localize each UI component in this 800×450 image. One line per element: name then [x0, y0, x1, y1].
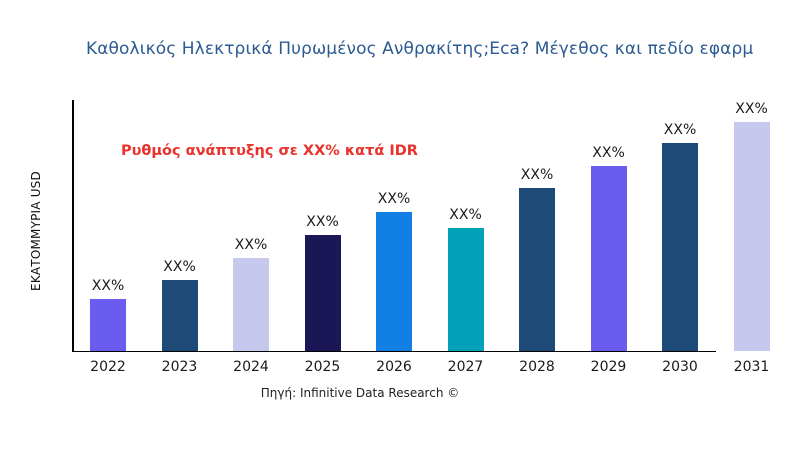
bar-group: XX% — [90, 299, 126, 351]
bar-value-label: XX% — [163, 259, 195, 275]
bar[interactable] — [90, 299, 126, 351]
x-tick-label: 2024 — [216, 359, 286, 375]
x-tick-label: 2022 — [73, 359, 143, 375]
bar-group: XX% — [376, 212, 412, 351]
chart-title: Καθολικός Ηλεκτρικά Πυρωμένος Ανθρακίτης… — [86, 39, 800, 59]
y-axis-line — [72, 100, 74, 352]
x-tick-label: 2028 — [502, 359, 572, 375]
x-axis-line — [72, 351, 716, 353]
bar[interactable] — [662, 143, 698, 351]
x-tick-label: 2029 — [574, 359, 644, 375]
bar[interactable] — [591, 166, 627, 351]
bar[interactable] — [734, 122, 770, 351]
bar[interactable] — [519, 188, 555, 351]
bar-group: XX% — [305, 235, 341, 351]
bar-value-label: XX% — [235, 237, 267, 253]
bar-group: XX% — [233, 258, 269, 351]
bar-group: XX% — [162, 280, 198, 351]
bar[interactable] — [162, 280, 198, 351]
bar-group: XX% — [448, 228, 484, 351]
bar[interactable] — [376, 212, 412, 351]
bar-value-label: XX% — [735, 101, 767, 117]
x-tick-label: 2027 — [431, 359, 501, 375]
growth-rate-annotation: Ρυθμός ανάπτυξης σε XX% κατά IDR — [121, 143, 418, 159]
x-tick-label: 2031 — [717, 359, 787, 375]
x-tick-label: 2026 — [359, 359, 429, 375]
chart-page: Καθολικός Ηλεκτρικά Πυρωμένος Ανθρακίτης… — [0, 0, 800, 450]
bar-value-label: XX% — [378, 191, 410, 207]
x-tick-label: 2023 — [145, 359, 215, 375]
bar-value-label: XX% — [306, 214, 338, 230]
bar-value-label: XX% — [92, 278, 124, 294]
x-tick-label: 2025 — [288, 359, 358, 375]
bar-group: XX% — [591, 166, 627, 351]
bar-group: XX% — [519, 188, 555, 351]
plot-area: XX%XX%XX%XX%XX%XX%XX%XX%XX%XX% — [72, 100, 786, 352]
y-axis-title: ΕΚΑΤΟΜΜΥΡΙΑ USD — [29, 101, 43, 361]
bar-group: XX% — [662, 143, 698, 351]
bar-value-label: XX% — [521, 167, 553, 183]
bar-group: XX% — [734, 122, 770, 351]
bar-value-label: XX% — [592, 145, 624, 161]
source-note: Πηγή: Infinitive Data Research © — [0, 386, 720, 400]
bar[interactable] — [448, 228, 484, 351]
x-tick-label: 2030 — [645, 359, 715, 375]
bar[interactable] — [233, 258, 269, 351]
bar-value-label: XX% — [664, 122, 696, 138]
bar-value-label: XX% — [449, 207, 481, 223]
bar[interactable] — [305, 235, 341, 351]
